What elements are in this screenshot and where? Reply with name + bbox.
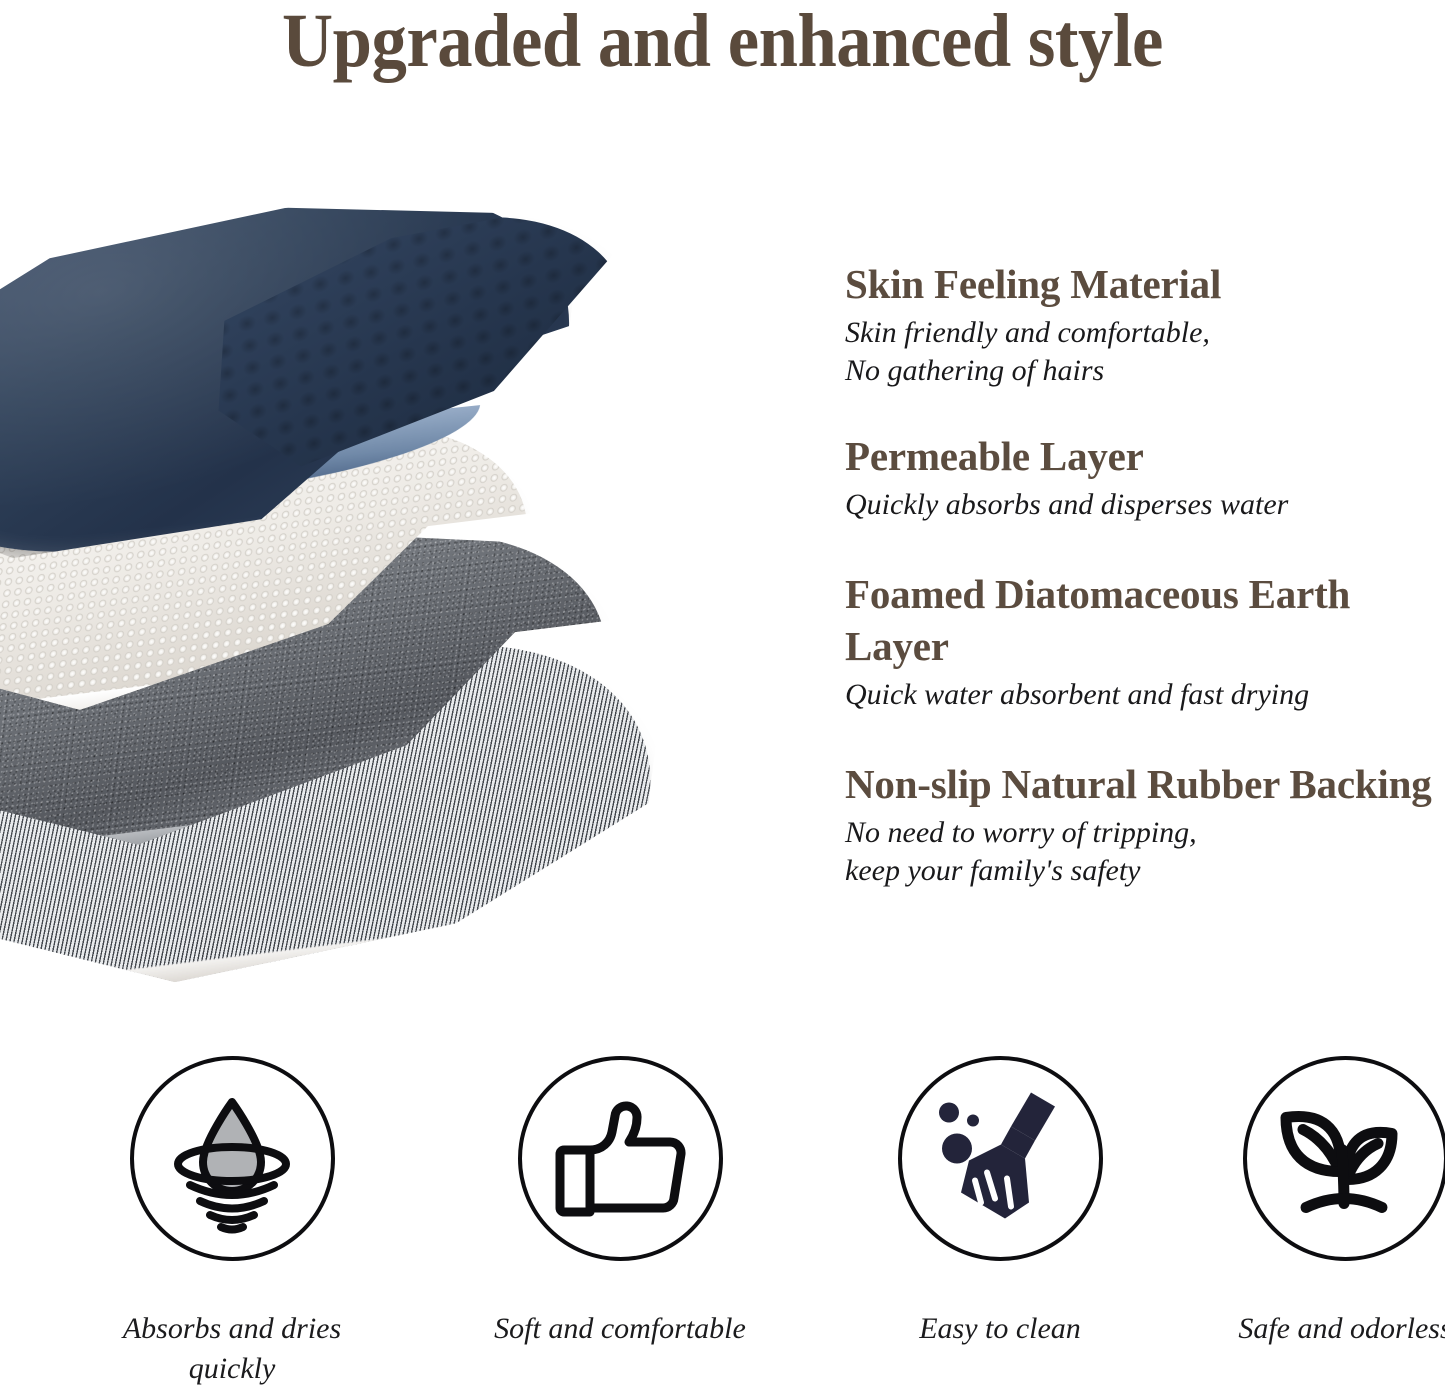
feature-foamed-diatomaceous-earth-layer: Foamed Diatomaceous Earth Layer Quick wa…: [845, 568, 1435, 714]
broom-sweeping-icon: [925, 1086, 1075, 1231]
benefit-caption: Easy to clean: [850, 1309, 1150, 1349]
benefit-caption: Soft and comfortable: [470, 1309, 770, 1349]
benefit-caption: Safe and odorless: [1195, 1309, 1445, 1349]
feature-title: Non-slip Natural Rubber Backing: [845, 758, 1435, 810]
benefit-icon-circle: [518, 1056, 723, 1261]
benefit-icon-circle: [130, 1056, 335, 1261]
benefit-absorbs-and-dries-quickly: Absorbs and dries quickly: [82, 1056, 382, 1389]
feature-skin-feeling-material: Skin Feeling Material Skin friendly and …: [845, 258, 1435, 390]
feature-description: Skin friendly and comfortable, No gather…: [845, 314, 1435, 390]
feature-list: Skin Feeling Material Skin friendly and …: [845, 258, 1435, 890]
benefit-caption: Absorbs and dries quickly: [82, 1309, 382, 1389]
water-drop-ripples-icon: [157, 1084, 307, 1234]
feature-title: Permeable Layer: [845, 430, 1435, 482]
product-layers-image: [0, 175, 780, 1005]
sprout-plant-icon: [1270, 1091, 1420, 1226]
feature-non-slip-natural-rubber-backing: Non-slip Natural Rubber Backing No need …: [845, 758, 1435, 890]
feature-title: Foamed Diatomaceous Earth Layer: [845, 568, 1435, 672]
thumbs-up-icon: [550, 1094, 690, 1224]
benefit-icon-row: Absorbs and dries quickly Soft and comfo…: [0, 1056, 1445, 1386]
benefit-easy-to-clean: Easy to clean: [850, 1056, 1150, 1349]
feature-description: No need to worry of tripping, keep your …: [845, 814, 1435, 890]
feature-title: Skin Feeling Material: [845, 258, 1435, 310]
benefit-icon-circle: [1243, 1056, 1445, 1261]
page-title: Upgraded and enhanced style: [51, 0, 1395, 84]
benefit-soft-and-comfortable: Soft and comfortable: [470, 1056, 770, 1349]
feature-description: Quickly absorbs and disperses water: [845, 486, 1435, 524]
feature-description: Quick water absorbent and fast drying: [845, 676, 1435, 714]
benefit-safe-and-odorless: Safe and odorless: [1195, 1056, 1445, 1349]
feature-permeable-layer: Permeable Layer Quickly absorbs and disp…: [845, 430, 1435, 524]
benefit-icon-circle: [898, 1056, 1103, 1261]
